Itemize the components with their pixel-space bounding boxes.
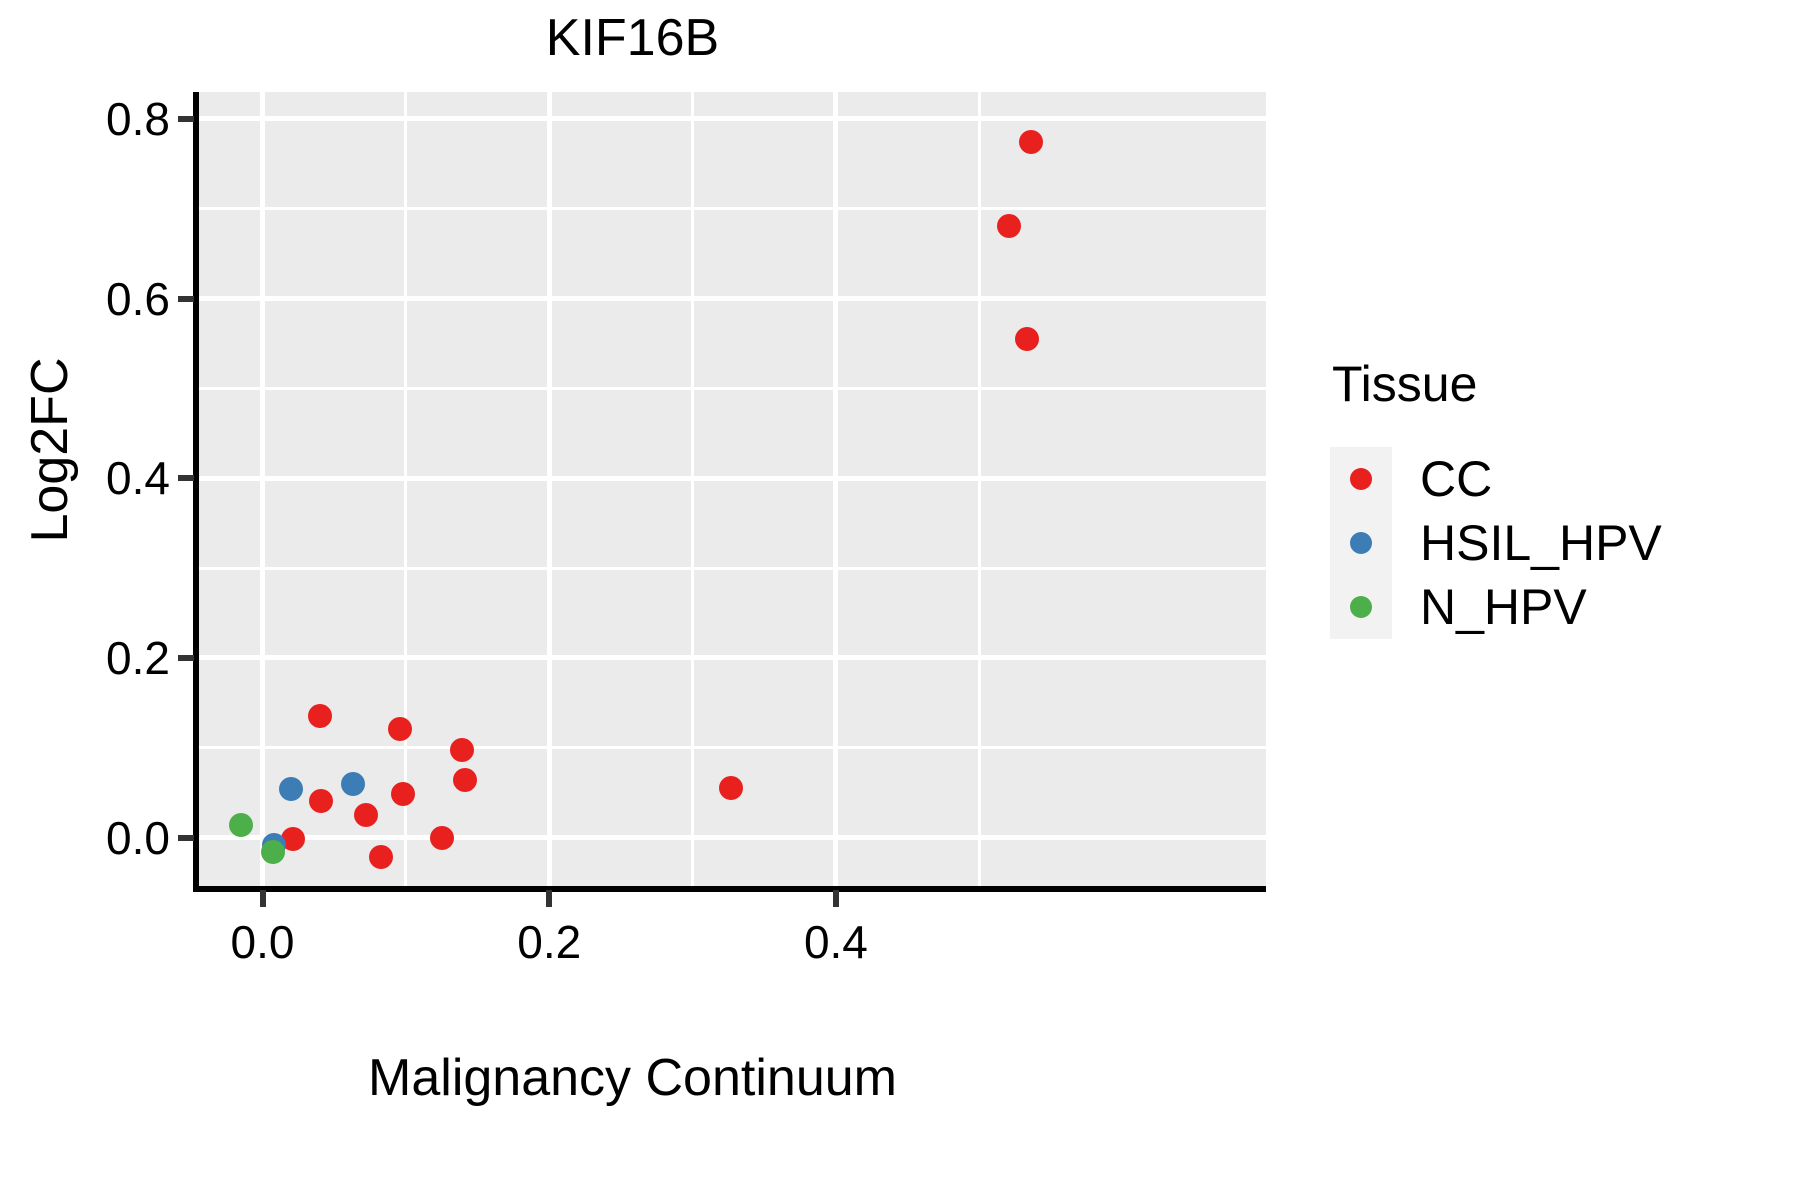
legend-key-swatch — [1330, 575, 1392, 639]
data-point-cc — [453, 768, 477, 792]
legend-items: CCHSIL_HPVN_HPV — [1330, 447, 1750, 639]
legend-item-label: HSIL_HPV — [1420, 514, 1662, 572]
x-axis-tick-label: 0.0 — [163, 915, 363, 969]
scatter-plot-figure: KIF16B 0.00.20.40.60.80.00.20.4 Log2FC M… — [0, 0, 1800, 1200]
y-axis-title: Log2FC — [20, 250, 80, 650]
gridline-vertical-minor — [691, 92, 694, 887]
data-point-cc — [450, 738, 474, 762]
gridline-horizontal-minor — [198, 567, 1266, 570]
x-axis-title: Malignancy Continuum — [0, 1048, 1265, 1108]
legend-title: Tissue — [1332, 355, 1750, 413]
data-point-cc — [388, 717, 412, 741]
gridline-horizontal-major — [198, 655, 1266, 660]
legend-key-swatch — [1330, 511, 1392, 575]
y-axis-tick-label: 0.0 — [10, 811, 170, 865]
data-point-n_hpv — [261, 840, 285, 864]
gridline-horizontal-minor — [198, 746, 1266, 749]
data-point-cc — [997, 214, 1021, 238]
data-point-cc — [1015, 327, 1039, 351]
gridline-vertical-minor — [978, 92, 981, 887]
y-axis-tick — [178, 655, 194, 661]
x-axis-tick — [833, 890, 839, 907]
data-point-hsil_hpv — [279, 777, 303, 801]
y-axis-tick — [178, 296, 194, 302]
gridline-vertical-major — [833, 92, 838, 887]
data-point-cc — [719, 776, 743, 800]
legend-item-hsil_hpv[interactable]: HSIL_HPV — [1330, 511, 1750, 575]
gridline-horizontal-minor — [198, 207, 1266, 210]
gridline-horizontal-minor — [198, 387, 1266, 390]
legend-item-label: CC — [1420, 450, 1492, 508]
x-axis-tick-label: 0.2 — [449, 915, 649, 969]
x-axis-tick-label: 0.4 — [736, 915, 936, 969]
legend-dot-icon — [1350, 468, 1372, 490]
y-axis-tick — [178, 475, 194, 481]
legend-dot-icon — [1350, 532, 1372, 554]
data-point-cc — [1019, 130, 1043, 154]
x-axis-tick — [260, 890, 266, 907]
data-point-cc — [354, 803, 378, 827]
legend-item-cc[interactable]: CC — [1330, 447, 1750, 511]
plot-panel — [198, 92, 1266, 887]
y-axis-line — [193, 92, 199, 890]
gridline-horizontal-major — [198, 476, 1266, 481]
data-point-cc — [430, 826, 454, 850]
data-point-hsil_hpv — [341, 772, 365, 796]
legend-item-n_hpv[interactable]: N_HPV — [1330, 575, 1750, 639]
data-point-cc — [391, 782, 415, 806]
x-axis-line — [193, 886, 1266, 892]
x-axis-tick — [546, 890, 552, 907]
page-title: KIF16B — [0, 8, 1265, 68]
legend-dot-icon — [1350, 596, 1372, 618]
legend-key-swatch — [1330, 447, 1392, 511]
gridline-horizontal-major — [198, 296, 1266, 301]
data-point-n_hpv — [229, 813, 253, 837]
gridline-vertical-major — [260, 92, 265, 887]
y-axis-tick-label: 0.8 — [10, 92, 170, 146]
y-axis-tick — [178, 835, 194, 841]
gridline-vertical-major — [547, 92, 552, 887]
gridline-vertical-minor — [404, 92, 407, 887]
gridline-horizontal-major — [198, 116, 1266, 121]
legend-item-label: N_HPV — [1420, 578, 1587, 636]
gridline-horizontal-major — [198, 835, 1266, 840]
legend: Tissue CCHSIL_HPVN_HPV — [1330, 355, 1750, 639]
y-axis-tick — [178, 116, 194, 122]
data-point-cc — [308, 704, 332, 728]
data-point-cc — [369, 845, 393, 869]
data-point-cc — [309, 789, 333, 813]
